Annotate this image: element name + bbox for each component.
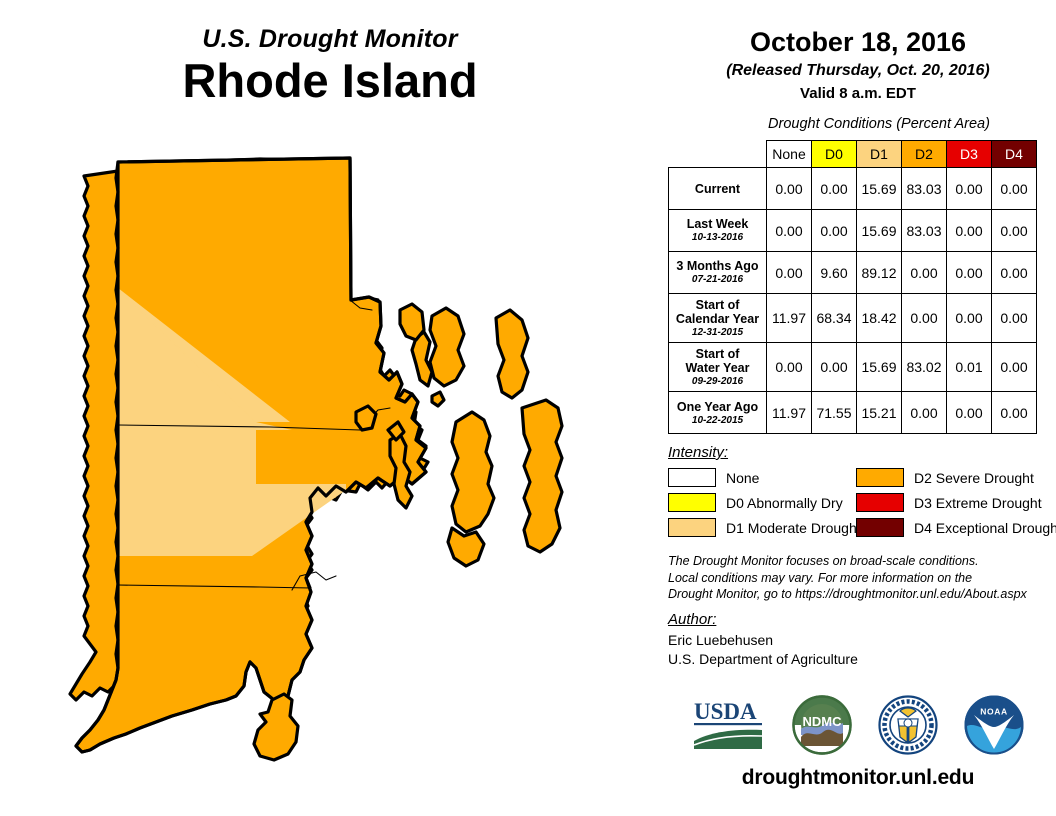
cell-d3: 0.00 bbox=[947, 392, 992, 434]
column-header-d2: D2 bbox=[902, 141, 947, 168]
valid-time: Valid 8 a.m. EDT bbox=[660, 85, 1056, 102]
row-label-text: Start of bbox=[672, 347, 763, 361]
usda-logo: USDA bbox=[692, 697, 766, 758]
date-block: October 18, 2016 (Released Thursday, Oct… bbox=[660, 0, 1056, 102]
cell-d3: 0.00 bbox=[947, 294, 992, 343]
cell-d1: 15.69 bbox=[857, 343, 902, 392]
table-row: Start ofCalendar Year12-31-201511.9768.3… bbox=[669, 294, 1037, 343]
disclaimer-text: The Drought Monitor focuses on broad-sca… bbox=[668, 553, 1054, 603]
intensity-legend: Intensity: NoneD2 Severe DroughtD0 Abnor… bbox=[668, 444, 1048, 537]
cell-d1: 18.42 bbox=[857, 294, 902, 343]
drought-conditions-table-wrap: None D0 D1 D2 D3 D4 Current0.000.0015.69… bbox=[668, 140, 1040, 434]
program-title: U.S. Drought Monitor bbox=[0, 26, 660, 52]
bristol-warren-peninsula bbox=[430, 308, 464, 386]
jamestown-spur bbox=[356, 406, 376, 430]
map-title-block: U.S. Drought Monitor Rhode Island bbox=[0, 26, 660, 108]
legend-label-d0: D0 Abnormally Dry bbox=[726, 495, 843, 511]
little-compton-peninsula bbox=[522, 400, 562, 552]
row-label-text: Calendar Year bbox=[672, 312, 763, 326]
legend-item-d3: D3 Extreme Drought bbox=[856, 493, 1048, 512]
legend-item-d2: D2 Severe Drought bbox=[856, 468, 1048, 487]
disclaimer-line-3: Drought Monitor, go to https://droughtmo… bbox=[668, 586, 1054, 603]
row-label-text: One Year Ago bbox=[672, 400, 763, 414]
row-label-date: 10-22-2015 bbox=[672, 415, 763, 426]
row-label-0: Current bbox=[669, 168, 767, 210]
cell-d2: 83.03 bbox=[902, 210, 947, 252]
table-row: Start ofWater Year09-29-20160.000.0015.6… bbox=[669, 343, 1037, 392]
legend-label-none: None bbox=[726, 470, 759, 486]
svg-text:USDA: USDA bbox=[694, 699, 757, 724]
noaa-logo: NOAA bbox=[964, 695, 1024, 760]
column-header-none: None bbox=[767, 141, 812, 168]
row-label-text: 3 Months Ago bbox=[672, 259, 763, 273]
release-date: (Released Thursday, Oct. 20, 2016) bbox=[660, 62, 1056, 80]
cell-d4: 0.00 bbox=[992, 252, 1037, 294]
header-spacer bbox=[669, 141, 767, 168]
table-row: Last Week10-13-20160.000.0015.6983.030.0… bbox=[669, 210, 1037, 252]
legend-label-d1: D1 Moderate Drought bbox=[726, 520, 861, 536]
cell-d4: 0.00 bbox=[992, 294, 1037, 343]
barrington-neck bbox=[400, 304, 424, 340]
row-label-date: 10-13-2016 bbox=[672, 232, 763, 243]
table-row: 3 Months Ago07-21-20160.009.6089.120.000… bbox=[669, 252, 1037, 294]
table-caption: Drought Conditions (Percent Area) bbox=[702, 116, 1056, 132]
right-info-panel: October 18, 2016 (Released Thursday, Oct… bbox=[660, 0, 1056, 816]
map-svg bbox=[60, 140, 660, 800]
agency-logos: USDA NDMC bbox=[660, 692, 1056, 762]
row-label-1: Last Week10-13-2016 bbox=[669, 210, 767, 252]
legend-item-d0: D0 Abnormally Dry bbox=[668, 493, 856, 512]
cell-d0: 0.00 bbox=[812, 210, 857, 252]
cell-none: 0.00 bbox=[767, 343, 812, 392]
svg-text:NDMC: NDMC bbox=[803, 714, 843, 729]
column-header-d4: D4 bbox=[992, 141, 1037, 168]
legend-swatch-d4 bbox=[856, 518, 904, 537]
cell-none: 0.00 bbox=[767, 168, 812, 210]
legend-swatch-none bbox=[668, 468, 716, 487]
state-title: Rhode Island bbox=[0, 54, 660, 108]
author-organization: U.S. Department of Agriculture bbox=[668, 650, 1054, 669]
legend-label-d3: D3 Extreme Drought bbox=[914, 495, 1042, 511]
cell-d4: 0.00 bbox=[992, 392, 1037, 434]
legend-swatch-d1 bbox=[668, 518, 716, 537]
cell-d4: 0.00 bbox=[992, 343, 1037, 392]
legend-label-d4: D4 Exceptional Drought bbox=[914, 520, 1056, 536]
rhode-island-drought-map bbox=[60, 140, 660, 800]
row-label-3: Start ofCalendar Year12-31-2015 bbox=[669, 294, 767, 343]
legend-swatch-d0 bbox=[668, 493, 716, 512]
row-label-text: Current bbox=[672, 182, 763, 196]
cell-d2: 0.00 bbox=[902, 294, 947, 343]
table-row: One Year Ago10-22-201511.9771.5515.210.0… bbox=[669, 392, 1037, 434]
cell-d2: 0.00 bbox=[902, 252, 947, 294]
cell-d2: 0.00 bbox=[902, 392, 947, 434]
cell-d1: 15.69 bbox=[857, 210, 902, 252]
row-label-text: Start of bbox=[672, 298, 763, 312]
usdc-logo bbox=[878, 695, 938, 760]
column-header-d3: D3 bbox=[947, 141, 992, 168]
cell-d2: 83.03 bbox=[902, 168, 947, 210]
legend-item-none: None bbox=[668, 468, 856, 487]
row-label-5: One Year Ago10-22-2015 bbox=[669, 392, 767, 434]
table-row: Current0.000.0015.6983.030.000.00 bbox=[669, 168, 1037, 210]
small-bay-islet bbox=[432, 392, 444, 406]
cell-d1: 15.69 bbox=[857, 168, 902, 210]
cell-none: 0.00 bbox=[767, 210, 812, 252]
aquidneck-island bbox=[452, 412, 494, 532]
row-label-2: 3 Months Ago07-21-2016 bbox=[669, 252, 767, 294]
cell-d0: 0.00 bbox=[812, 168, 857, 210]
drought-conditions-table: None D0 D1 D2 D3 D4 Current0.000.0015.69… bbox=[668, 140, 1037, 434]
svg-text:NOAA: NOAA bbox=[980, 706, 1007, 716]
cell-d1: 89.12 bbox=[857, 252, 902, 294]
author-name: Eric Luebehusen bbox=[668, 631, 1054, 650]
row-label-text: Last Week bbox=[672, 217, 763, 231]
block-island bbox=[254, 694, 298, 760]
cell-d3: 0.00 bbox=[947, 252, 992, 294]
legend-item-d1: D1 Moderate Drought bbox=[668, 518, 856, 537]
cell-d0: 0.00 bbox=[812, 343, 857, 392]
cell-d4: 0.00 bbox=[992, 210, 1037, 252]
issue-date: October 18, 2016 bbox=[660, 28, 1056, 58]
intensity-legend-grid: NoneD2 Severe DroughtD0 Abnormally DryD3… bbox=[668, 468, 1048, 537]
author-block: Author: Eric Luebehusen U.S. Department … bbox=[668, 611, 1054, 670]
cell-d0: 71.55 bbox=[812, 392, 857, 434]
row-label-4: Start ofWater Year09-29-2016 bbox=[669, 343, 767, 392]
cell-d0: 68.34 bbox=[812, 294, 857, 343]
cell-none: 11.97 bbox=[767, 392, 812, 434]
cell-d4: 0.00 bbox=[992, 168, 1037, 210]
disclaimer-line-1: The Drought Monitor focuses on broad-sca… bbox=[668, 553, 1054, 570]
cell-d1: 15.21 bbox=[857, 392, 902, 434]
cell-d3: 0.01 bbox=[947, 343, 992, 392]
row-label-text: Water Year bbox=[672, 361, 763, 375]
intensity-legend-title: Intensity: bbox=[668, 444, 1048, 461]
cell-d0: 9.60 bbox=[812, 252, 857, 294]
cell-none: 0.00 bbox=[767, 252, 812, 294]
cell-d3: 0.00 bbox=[947, 210, 992, 252]
author-title: Author: bbox=[668, 611, 1054, 628]
cell-d3: 0.00 bbox=[947, 168, 992, 210]
column-header-d1: D1 bbox=[857, 141, 902, 168]
ndmc-logo: NDMC bbox=[792, 695, 852, 760]
cell-d2: 83.02 bbox=[902, 343, 947, 392]
column-header-d0: D0 bbox=[812, 141, 857, 168]
cell-none: 11.97 bbox=[767, 294, 812, 343]
legend-item-d4: D4 Exceptional Drought bbox=[856, 518, 1048, 537]
table-header-row: None D0 D1 D2 D3 D4 bbox=[669, 141, 1037, 168]
row-label-date: 12-31-2015 bbox=[672, 327, 763, 338]
row-label-date: 07-21-2016 bbox=[672, 274, 763, 285]
legend-swatch-d2 bbox=[856, 468, 904, 487]
disclaimer-line-2: Local conditions may vary. For more info… bbox=[668, 570, 1054, 587]
row-label-date: 09-29-2016 bbox=[672, 376, 763, 387]
aquidneck-south-lobe bbox=[448, 528, 484, 566]
site-url: droughtmonitor.unl.edu bbox=[660, 766, 1056, 790]
legend-swatch-d3 bbox=[856, 493, 904, 512]
drought-conditions-table-body: Current0.000.0015.6983.030.000.00Last We… bbox=[669, 168, 1037, 434]
legend-label-d2: D2 Severe Drought bbox=[914, 470, 1034, 486]
tiverton-neck bbox=[496, 310, 528, 398]
